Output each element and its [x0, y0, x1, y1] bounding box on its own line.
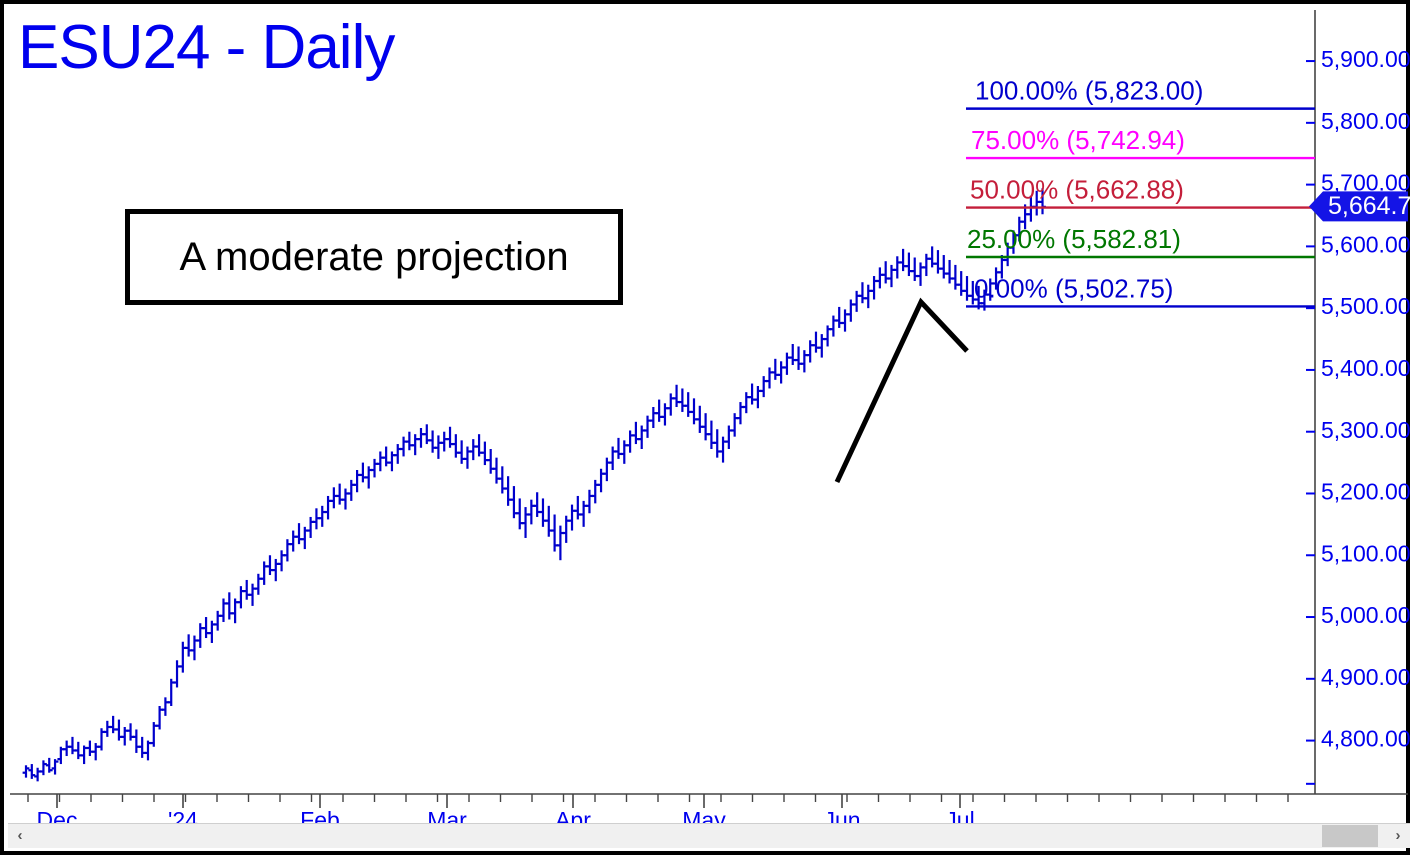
y-axis-label: 5,000.00: [1321, 602, 1410, 628]
trendline[interactable]: [837, 302, 967, 482]
horizontal-scrollbar[interactable]: ‹ ›: [8, 823, 1410, 847]
ohlc-bars-group: [23, 188, 1046, 781]
fib-level-label: 75.00% (5,742.94): [971, 125, 1185, 155]
y-axis-label: 5,500.00: [1321, 293, 1410, 319]
fib-level-label: 25.00% (5,582.81): [967, 224, 1181, 254]
y-axis-label: 5,200.00: [1321, 479, 1410, 505]
scrollbar-track[interactable]: [32, 824, 1386, 848]
fibonacci-levels-group: 100.00% (5,823.00)75.00% (5,742.94)50.00…: [966, 76, 1315, 307]
scroll-left-arrow-icon[interactable]: ‹: [8, 824, 32, 848]
fib-level-label: 50.00% (5,662.88): [970, 175, 1184, 205]
y-axis-label: 4,800.00: [1321, 726, 1410, 752]
last-price-tag-value: 5,664.75: [1328, 192, 1410, 220]
y-axis-label: 5,900.00: [1321, 46, 1410, 72]
y-axis-label: 5,300.00: [1321, 417, 1410, 443]
y-axis-label: 5,800.00: [1321, 108, 1410, 134]
price-chart[interactable]: 5,900.005,800.005,700.005,600.005,500.00…: [4, 4, 1410, 859]
y-axis-label: 5,400.00: [1321, 355, 1410, 381]
chart-window: ESU24 - Daily A moderate projection 5,90…: [0, 0, 1410, 855]
y-axis-label: 5,600.00: [1321, 231, 1410, 257]
scrollbar-thumb[interactable]: [1322, 825, 1378, 847]
scroll-right-arrow-icon[interactable]: ›: [1386, 824, 1410, 848]
fib-level-label: 100.00% (5,823.00): [975, 76, 1203, 106]
fib-level-label: 0.00% (5,502.75): [974, 273, 1173, 303]
y-axis-label: 5,100.00: [1321, 540, 1410, 566]
y-axis-label: 4,900.00: [1321, 664, 1410, 690]
